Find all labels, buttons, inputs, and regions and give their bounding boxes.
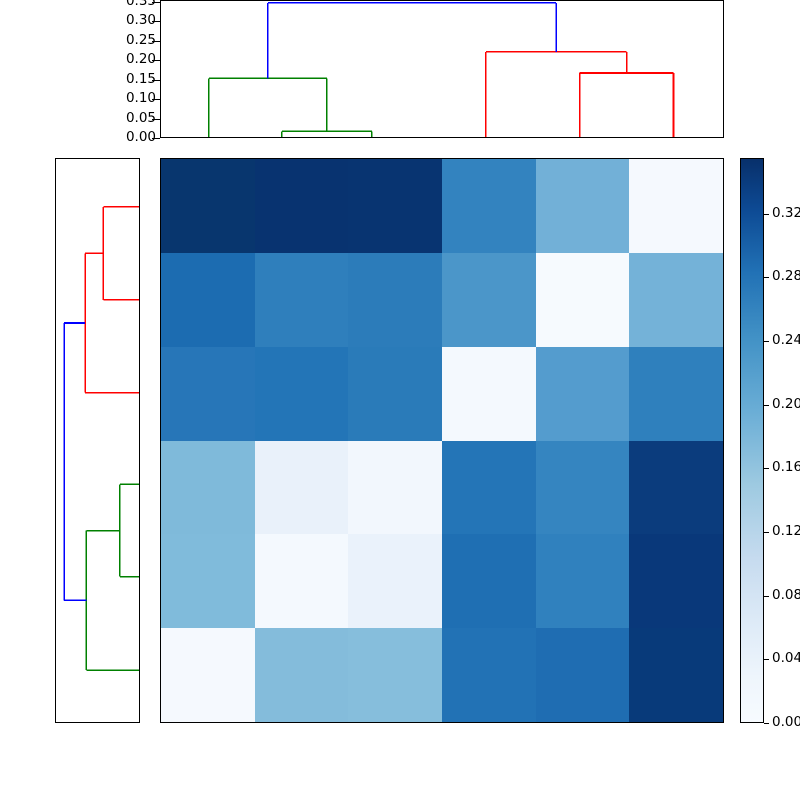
heatmap-cell — [442, 347, 536, 441]
heatmap-cell — [536, 253, 630, 347]
colorbar-tick-label: 0.32 — [772, 207, 800, 221]
heatmap-cell — [536, 534, 630, 628]
colorbar-tick-mark — [764, 468, 769, 469]
heatmap-cell — [442, 534, 536, 628]
colorbar-tick-labels: 0.000.040.080.120.160.200.240.280.32 — [764, 158, 800, 723]
colorbar-tick-label: 0.20 — [772, 398, 800, 412]
col-dendrogram-axis-labels: 0.350.300.250.200.150.100.050.00 — [110, 0, 156, 140]
heatmap-cell — [348, 628, 442, 722]
heatmap-cell — [255, 534, 349, 628]
heatmap-cell — [536, 628, 630, 722]
col-dendrogram-tick-mark — [152, 41, 160, 42]
col-dendrogram-tick-mark — [152, 119, 160, 120]
heatmap-cell — [629, 159, 723, 253]
colorbar-tick-label: 0.16 — [772, 461, 800, 475]
colorbar-tick-label: 0.00 — [772, 716, 800, 730]
heatmap-cell — [536, 441, 630, 535]
heatmap-cell — [161, 347, 255, 441]
colorbar-tick-label: 0.08 — [772, 589, 800, 603]
heatmap-cell — [629, 253, 723, 347]
colorbar-tick-label: 0.12 — [772, 525, 800, 539]
heatmap-cell — [161, 253, 255, 347]
colorbar-tick-label: 0.24 — [772, 334, 800, 348]
col-dendrogram-tick-mark — [152, 60, 160, 61]
heatmap-cell — [442, 628, 536, 722]
row-dendrogram-svg — [56, 159, 139, 722]
heatmap-cell — [348, 253, 442, 347]
row-dendrogram-panel — [55, 158, 140, 723]
heatmap-cell — [255, 628, 349, 722]
col-dendrogram-tick-mark — [152, 80, 160, 81]
heatmap-cell — [348, 534, 442, 628]
col-dendrogram-svg — [161, 1, 723, 137]
colorbar-tick-mark — [764, 277, 769, 278]
colorbar-tick-mark — [764, 214, 769, 215]
colorbar-tick-label: 0.28 — [772, 270, 800, 284]
heatmap-cell — [255, 253, 349, 347]
colorbar-tick-mark — [764, 341, 769, 342]
col-dendrogram-tick-mark — [152, 2, 160, 3]
heatmap-cell — [255, 441, 349, 535]
colorbar-tick-mark — [764, 596, 769, 597]
heatmap-cell — [348, 159, 442, 253]
heatmap-cell — [629, 441, 723, 535]
heatmap-cell — [536, 159, 630, 253]
col-dendrogram-tick-mark — [152, 21, 160, 22]
heatmap-cell — [629, 628, 723, 722]
colorbar-tick-mark — [764, 659, 769, 660]
heatmap-cell — [161, 534, 255, 628]
heatmap-cell — [255, 159, 349, 253]
heatmap-cell — [629, 347, 723, 441]
col-dendrogram-panel — [160, 0, 724, 138]
colorbar-tick-label: 0.04 — [772, 652, 800, 666]
colorbar: 0.000.040.080.120.160.200.240.280.32 — [740, 158, 764, 723]
heatmap-cell — [536, 347, 630, 441]
heatmap-panel — [160, 158, 724, 723]
heatmap-cell — [161, 628, 255, 722]
colorbar-gradient — [740, 158, 764, 723]
heatmap-cell — [348, 441, 442, 535]
heatmap-cell — [442, 253, 536, 347]
col-dendrogram-tick-mark — [152, 99, 160, 100]
heatmap-cell — [629, 534, 723, 628]
colorbar-tick-mark — [764, 723, 769, 724]
colorbar-tick-mark — [764, 532, 769, 533]
heatmap-cell — [348, 347, 442, 441]
heatmap-cell — [442, 159, 536, 253]
colorbar-tick-mark — [764, 405, 769, 406]
clustermap-figure: 0.350.300.250.200.150.100.050.00 0.000.0… — [0, 0, 800, 800]
col-dendrogram-tick-mark — [152, 138, 160, 139]
heatmap-cell — [161, 159, 255, 253]
heatmap-cell — [255, 347, 349, 441]
heatmap-cell — [442, 441, 536, 535]
heatmap-cell — [161, 441, 255, 535]
heatmap-grid — [161, 159, 723, 722]
